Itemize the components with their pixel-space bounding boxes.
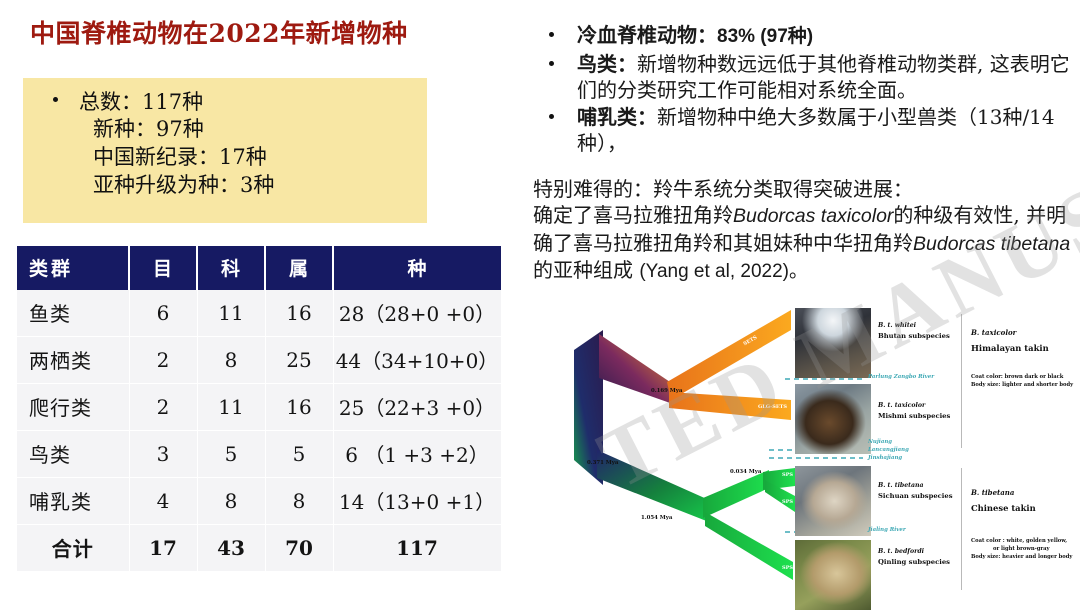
- tip-label-sps-2: SPS: [782, 499, 793, 505]
- table-row: 鱼类 6 11 16 28（28+0 +0）: [17, 290, 501, 337]
- slide-root: 中国脊椎动物在2022年新增物种 总数：117种 新种：97种 中国新纪录：17…: [0, 0, 1080, 615]
- body-size-desc: Body size: heavier and longer body: [971, 554, 1072, 562]
- table-row: 爬行类 2 11 16 25（22+3 +0）: [17, 384, 501, 431]
- table-row: 哺乳类 4 8 8 14（13+0 +1）: [17, 478, 501, 525]
- cell-group: 爬行类: [17, 384, 129, 431]
- subspecies-name: Bhutan subspecies: [878, 332, 950, 340]
- table-body: 鱼类 6 11 16 28（28+0 +0） 两栖类 2 8 25 44（34+…: [17, 290, 501, 571]
- bullet-label: 哺乳类：: [577, 105, 657, 129]
- bullet-label: 鸟类：: [577, 52, 637, 76]
- summary-total-text: 总数：117种: [79, 90, 203, 114]
- paragraph-line-1: 特别难得的：羚牛系统分类取得突破进展：: [533, 176, 1080, 202]
- cell-family: 8: [197, 337, 265, 384]
- cell-genus: 16: [265, 290, 333, 337]
- col-header-genus: 属: [265, 246, 333, 290]
- summary-list: 总数：117种 新种：97种 中国新纪录：17种 亚种升级为种：3种: [23, 78, 427, 200]
- river-label-jinshajiang: Jinshajiang: [868, 455, 902, 463]
- bullet-mammals: 哺乳类：新增物种中绝大多数属于小型兽类（13种/14种），: [533, 104, 1078, 156]
- cell-order: 2: [129, 384, 197, 431]
- species-group-taxicolor-desc: Coat color: brown dark or black Body siz…: [971, 374, 1073, 390]
- subspecies-latin: B. t. tibetana: [878, 482, 953, 489]
- cell-group: 两栖类: [17, 337, 129, 384]
- paragraph-text-a: 确定了喜马拉雅扭角羚: [533, 203, 733, 227]
- bullet-dot-icon: [549, 114, 554, 119]
- cell-family: 11: [197, 384, 265, 431]
- col-header-family: 科: [197, 246, 265, 290]
- bullet-dot-icon: [549, 32, 554, 37]
- cell-species: 6 （1 +3 +2）: [333, 431, 501, 478]
- node-age-1054: 1.054 Mya: [641, 515, 672, 521]
- bullet-cold-blooded: 冷血脊椎动物：83% (97种): [533, 22, 1078, 50]
- photo-bhutan-takin: [795, 308, 871, 378]
- paragraph-text-c: 的亚种组成: [533, 258, 639, 282]
- col-header-order: 目: [129, 246, 197, 290]
- cell-total-order: 17: [129, 525, 197, 572]
- species-group-taxicolor: B. taxicolor Himalayan takin: [971, 328, 1049, 353]
- subspecies-label-taxicolor: B. t. taxicolor Mishmi subspecies: [878, 402, 950, 420]
- taxon-budorcas-taxicolor: Budorcas taxicolor: [733, 205, 893, 227]
- subspecies-label-whitei: B. t. whitei Bhutan subspecies: [878, 322, 950, 340]
- body-size-desc: Body size: lighter and shorter body: [971, 382, 1073, 390]
- photo-sichuan-takin: [795, 466, 871, 536]
- cell-order: 4: [129, 478, 197, 525]
- cell-species: 14（13+0 +1）: [333, 478, 501, 525]
- cell-group: 哺乳类: [17, 478, 129, 525]
- cell-genus: 8: [265, 478, 333, 525]
- tip-label-glg-sets: GLG-SETS: [758, 404, 787, 410]
- subspecies-latin: B. t. taxicolor: [878, 402, 950, 409]
- species-group-name: Chinese takin: [971, 503, 1036, 513]
- bullet-dot-icon: [549, 61, 554, 66]
- summary-bullet-total: 总数：117种: [23, 88, 427, 116]
- bullet-dot-icon: [53, 97, 58, 102]
- coat-color-desc-cont: or light brown-gray: [971, 546, 1072, 554]
- bullet-list: 冷血脊椎动物：83% (97种) 鸟类：新增物种数远远低于其他脊椎动物类群, 这…: [533, 22, 1078, 157]
- tree-branch-green-up: [703, 470, 769, 518]
- table-header-row: 类群 目 科 属 种: [17, 246, 501, 290]
- bullet-value: 新增物种数远远低于其他脊椎动物类群, 这表明它们的分类研究工作可能相对系统全面。: [577, 52, 1070, 102]
- cell-species: 28（28+0 +0）: [333, 290, 501, 337]
- tip-label-sps-1: SPS: [782, 472, 793, 478]
- statistics-table-wrapper: 类群 目 科 属 种 鱼类 6 11 16 28（28+0 +0）: [17, 246, 501, 571]
- river-label-parlung: Parlung Zangbo River: [868, 374, 934, 382]
- subspecies-latin: B. t. whitei: [878, 322, 950, 329]
- node-age-0169: 0.169 Mya: [651, 388, 682, 394]
- species-group-tibetana: B. tibetana Chinese takin: [971, 488, 1036, 513]
- citation-reference: (Yang et al, 2022)。: [639, 261, 808, 282]
- summary-line-new-species: 新种：97种: [23, 116, 427, 144]
- group-divider-upper: [961, 314, 962, 448]
- paragraph-body: 确定了喜马拉雅扭角羚Budorcas taxicolor的种级有效性, 并明确了…: [533, 202, 1080, 285]
- cell-total-family: 43: [197, 525, 265, 572]
- node-age-0371: 0.371 Mya: [587, 460, 618, 466]
- page-title: 中国脊椎动物在2022年新增物种: [30, 14, 408, 50]
- cell-order: 2: [129, 337, 197, 384]
- table-total-row: 合计 17 43 70 117: [17, 525, 501, 572]
- river-label-nujiang: Nujiang: [868, 439, 892, 447]
- cell-total-label: 合计: [17, 525, 129, 572]
- taxon-budorcas-tibetana: Budorcas tibetana: [913, 233, 1070, 255]
- cell-family: 11: [197, 290, 265, 337]
- tip-label-sps-3: SPS: [782, 565, 793, 571]
- cell-order: 3: [129, 431, 197, 478]
- river-label-lancangjiang: Lancangjiang: [868, 447, 909, 455]
- subspecies-label-bedfordi: B. t. bedfordi Qinling subspecies: [878, 548, 950, 566]
- phylogenetic-tree-figure: 0.169 Mya 0.371 Mya 1.054 Mya 0.034 Mya …: [563, 300, 1080, 610]
- cell-genus: 5: [265, 431, 333, 478]
- subspecies-name: Mishmi subspecies: [878, 412, 950, 420]
- summary-line-new-record: 中国新纪录：17种: [23, 144, 427, 172]
- bullet-label: 冷血脊椎动物：: [577, 23, 717, 47]
- node-age-0034: 0.034 Mya: [730, 469, 761, 475]
- species-group-latin: B. taxicolor: [971, 328, 1049, 337]
- cell-total-species: 117: [333, 525, 501, 572]
- cell-family: 8: [197, 478, 265, 525]
- photo-mishmi-takin: [795, 384, 871, 454]
- cell-group: 鱼类: [17, 290, 129, 337]
- photo-qinling-takin: [795, 540, 871, 610]
- group-divider-lower: [961, 468, 962, 590]
- cell-species: 25（22+3 +0）: [333, 384, 501, 431]
- subspecies-latin: B. t. bedfordi: [878, 548, 950, 555]
- cell-genus: 25: [265, 337, 333, 384]
- cell-total-genus: 70: [265, 525, 333, 572]
- tree-branch-whitei: [667, 310, 791, 400]
- coat-color-desc: Coat color : white, golden yellow,: [971, 538, 1072, 546]
- summary-box: 总数：117种 新种：97种 中国新纪录：17种 亚种升级为种：3种: [23, 78, 427, 223]
- col-header-group: 类群: [17, 246, 129, 290]
- subspecies-name: Qinling subspecies: [878, 558, 950, 566]
- river-label-jialing: Jialing River: [868, 527, 906, 535]
- species-group-latin: B. tibetana: [971, 488, 1036, 497]
- species-group-tibetana-desc: Coat color : white, golden yellow, or li…: [971, 538, 1072, 561]
- coat-color-desc: Coat color: brown dark or black: [971, 374, 1073, 382]
- cell-family: 5: [197, 431, 265, 478]
- table-row: 两栖类 2 8 25 44（34+10+0）: [17, 337, 501, 384]
- table-row: 鸟类 3 5 5 6 （1 +3 +2）: [17, 431, 501, 478]
- cell-group: 鸟类: [17, 431, 129, 478]
- bullet-birds: 鸟类：新增物种数远远低于其他脊椎动物类群, 这表明它们的分类研究工作可能相对系统…: [533, 51, 1078, 103]
- table-head: 类群 目 科 属 种: [17, 246, 501, 290]
- cell-order: 6: [129, 290, 197, 337]
- cell-genus: 16: [265, 384, 333, 431]
- cell-species: 44（34+10+0）: [333, 337, 501, 384]
- bullet-value: 83% (97种): [717, 26, 813, 47]
- species-group-name: Himalayan takin: [971, 343, 1049, 353]
- tree-branch-bedfordi: [705, 512, 793, 580]
- right-column: 冷血脊椎动物：83% (97种) 鸟类：新增物种数远远低于其他脊椎动物类群, 这…: [525, 0, 1080, 615]
- left-column: 中国脊椎动物在2022年新增物种 总数：117种 新种：97种 中国新纪录：17…: [0, 0, 525, 615]
- summary-line-subspecies-upgrade: 亚种升级为种：3种: [23, 172, 427, 200]
- subspecies-label-tibetana: B. t. tibetana Sichuan subspecies: [878, 482, 953, 500]
- col-header-species: 种: [333, 246, 501, 290]
- statistics-table: 类群 目 科 属 种 鱼类 6 11 16 28（28+0 +0）: [17, 246, 502, 571]
- subspecies-name: Sichuan subspecies: [878, 492, 953, 500]
